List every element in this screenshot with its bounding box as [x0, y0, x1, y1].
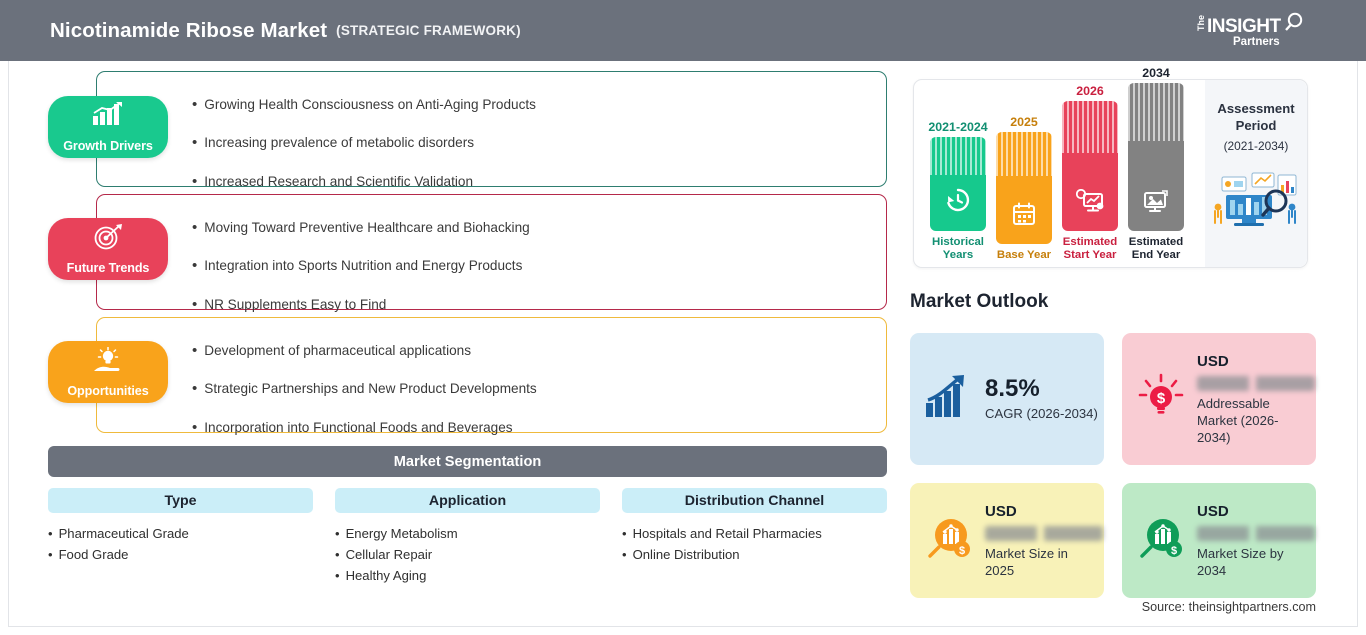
badge-label: Opportunities [67, 384, 148, 398]
assessment-bar-estimated-start: 2026 Estimated Start Year [1062, 84, 1118, 262]
redacted-value [985, 526, 1103, 541]
list-item: Integration into Sports Nutrition and En… [96, 247, 796, 286]
outlook-card-market-size-2025: $ USD Market Size in 2025 [910, 483, 1104, 598]
card-label: Market Size by 2034 [1197, 545, 1309, 579]
lightbulb-dollar-icon: $ [1136, 373, 1186, 426]
lightbulb-hand-icon [91, 347, 125, 380]
growth-drivers-list: Growing Health Consciousness on Anti-Agi… [96, 71, 796, 201]
svg-text:$: $ [959, 545, 965, 557]
list-item: Growing Health Consciousness on Anti-Agi… [96, 85, 796, 124]
bar-chart-arrow-icon [924, 375, 974, 424]
column-header: Type [48, 488, 313, 513]
magnifier-chart-dollar-icon: $ [924, 514, 974, 567]
column-header: Distribution Channel [622, 488, 887, 513]
card-label: Addressable Market (2026-2034) [1197, 395, 1309, 446]
list-item: Energy Metabolism [335, 523, 600, 544]
bar-shape [1062, 101, 1118, 231]
redacted-value [1197, 526, 1315, 541]
assessment-period-panel: 2021-2024 Historical Years 2025 [913, 79, 1308, 268]
svg-text:INSIGHT: INSIGHT [1207, 16, 1281, 37]
list-item: Moving Toward Preventive Healthcare and … [96, 208, 796, 247]
badge-growth-drivers: Growth Drivers [48, 96, 168, 158]
list-item: Pharmaceutical Grade [48, 523, 313, 544]
list-item: Healthy Aging [335, 565, 600, 586]
badge-label: Growth Drivers [63, 139, 153, 153]
outlook-card-cagr: 8.5% CAGR (2026-2034) [910, 333, 1104, 465]
bar-shape [996, 132, 1052, 244]
insight-partners-logo: The INSIGHT Partners [1191, 11, 1311, 51]
list-item: Strategic Partnerships and New Product D… [96, 370, 796, 409]
calendar-icon [1012, 202, 1036, 231]
column-header: Application [335, 488, 600, 513]
outlook-card-addressable-market: $ USD Addressable Market (2026-2034) [1122, 333, 1316, 465]
assessment-bars: 2021-2024 Historical Years 2025 [928, 86, 1198, 262]
monitor-chart-icon [1076, 189, 1104, 218]
list-item: Food Grade [48, 544, 313, 565]
analytics-illustration-icon [1212, 167, 1300, 234]
cagr-label: CAGR (2026-2034) [985, 405, 1098, 422]
market-outlook-title: Market Outlook [910, 291, 1048, 313]
clock-history-icon [945, 187, 971, 218]
svg-text:Partners: Partners [1233, 36, 1280, 48]
currency-label: USD [1197, 503, 1315, 520]
outlook-card-market-size-2034: $ USD Market Size by 2034 [1122, 483, 1316, 598]
list-item: Increasing prevalence of metabolic disor… [96, 124, 796, 163]
card-label: Market Size in 2025 [985, 545, 1097, 579]
list-item: Incorporation into Functional Foods and … [96, 408, 796, 447]
cagr-value: 8.5% [985, 376, 1098, 401]
page-subtitle: (STRATEGIC FRAMEWORK) [336, 23, 521, 38]
bar-year-label: 2034 [1142, 66, 1170, 80]
svg-text:$: $ [1171, 545, 1177, 557]
bar-shape [930, 137, 986, 231]
source-attribution: Source: theinsightpartners.com [1142, 600, 1316, 614]
presentation-screen-icon [1142, 189, 1170, 218]
assessment-period-summary: Assessment Period (2021-2034) [1205, 80, 1307, 267]
redacted-value [1197, 376, 1315, 391]
bar-year-label: 2025 [1010, 115, 1038, 129]
currency-label: USD [985, 503, 1103, 520]
assessment-bar-estimated-end: 2034 Estimated End Year [1128, 66, 1184, 262]
bar-caption: Base Year [996, 249, 1052, 262]
market-segmentation-title: Market Segmentation [394, 454, 542, 470]
svg-text:The: The [1196, 15, 1206, 31]
bar-shape [1128, 83, 1184, 231]
bar-year-label: 2021-2024 [928, 120, 987, 134]
segmentation-column-type: Type Pharmaceutical Grade Food Grade [48, 488, 313, 565]
list-item: Development of pharmaceutical applicatio… [96, 331, 796, 370]
market-segmentation-header: Market Segmentation [48, 446, 887, 477]
bar-caption: Historical Years [927, 236, 989, 262]
bar-year-label: 2026 [1076, 84, 1104, 98]
page-header: Nicotinamide Ribose Market (STRATEGIC FR… [0, 0, 1366, 61]
list-item: Hospitals and Retail Pharmacies [622, 523, 887, 544]
bar-chart-growth-icon [91, 102, 125, 131]
assessment-bar-base-year: 2025 [996, 115, 1052, 262]
opportunities-list: Development of pharmaceutical applicatio… [96, 317, 796, 447]
assessment-bar-historical: 2021-2024 Historical Years [930, 120, 986, 262]
bar-caption: Estimated End Year [1125, 236, 1187, 262]
bar-caption: Estimated Start Year [1059, 236, 1121, 262]
list-item: Online Distribution [622, 544, 887, 565]
assessment-period-title: Assessment Period [1205, 100, 1307, 134]
list-item: Cellular Repair [335, 544, 600, 565]
infographic-page: Nicotinamide Ribose Market (STRATEGIC FR… [0, 0, 1366, 635]
segmentation-column-application: Application Energy Metabolism Cellular R… [335, 488, 600, 586]
svg-text:$: $ [1157, 390, 1166, 407]
segmentation-column-distribution-channel: Distribution Channel Hospitals and Retai… [622, 488, 887, 565]
page-title: Nicotinamide Ribose Market [50, 19, 327, 43]
magnifier-chart-dollar-icon: $ [1136, 514, 1186, 567]
badge-future-trends: Future Trends [48, 218, 168, 280]
target-dart-icon [92, 224, 124, 255]
assessment-period-range: (2021-2034) [1224, 139, 1289, 153]
currency-label: USD [1197, 353, 1315, 370]
badge-opportunities: Opportunities [48, 341, 168, 403]
badge-label: Future Trends [67, 261, 150, 275]
future-trends-list: Moving Toward Preventive Healthcare and … [96, 194, 796, 324]
